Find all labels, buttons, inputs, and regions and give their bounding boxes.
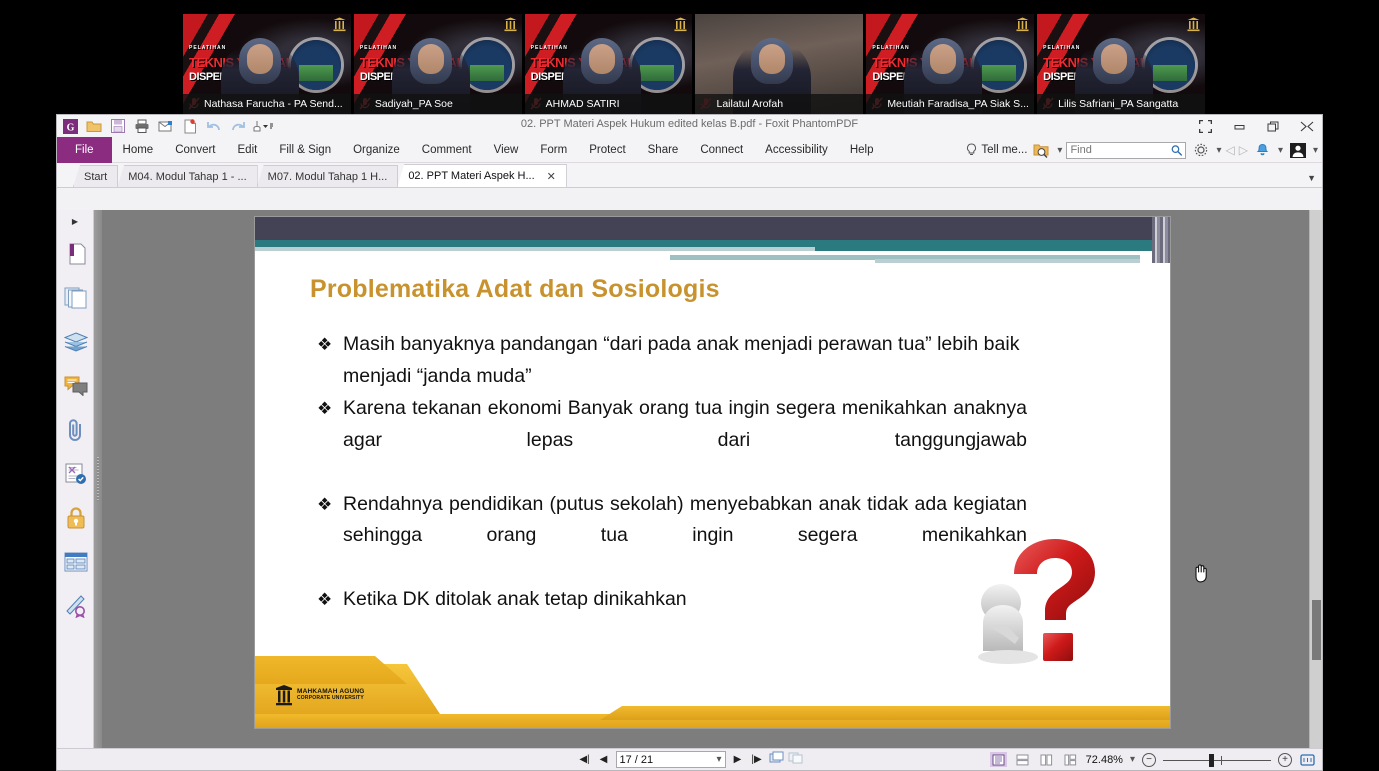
slide-accent-stripe-1	[255, 247, 815, 251]
pages-thumbnails-icon[interactable]	[57, 276, 94, 320]
participant-tile[interactable]: PELATIHANTEKNIS YUDISIALDISPENSASIMeutia…	[866, 14, 1034, 114]
ribbon-tab-organize[interactable]: Organize	[342, 137, 411, 163]
zoom-in-button[interactable]: +	[1278, 753, 1292, 767]
tell-me-box[interactable]: Tell me...	[966, 143, 1027, 157]
bullet-marker-icon: ❖	[317, 584, 343, 616]
minimize-button[interactable]	[1226, 117, 1252, 135]
ribbon-tab-protect[interactable]: Protect	[578, 137, 636, 163]
participant-name-label: Lilis Safriani_PA Sangatta	[1037, 94, 1205, 114]
status-bar: ◀| ◀ 17 / 21 ▾ ▶ |▶	[57, 748, 1322, 770]
participant-tile[interactable]: Lailatul Arofah	[695, 14, 863, 114]
participant-name-label: Nathasa Farucha - PA Send...	[183, 94, 351, 114]
continuous-view-icon[interactable]	[1014, 752, 1031, 767]
restore-button[interactable]	[1260, 117, 1286, 135]
ribbon-tab-accessibility[interactable]: Accessibility	[754, 137, 839, 163]
participant-tile[interactable]: PELATIHANTEKNIS YUDISIALDISPENSASIAHMAD …	[525, 14, 693, 114]
zoom-level-value: 72.48%	[1086, 754, 1123, 766]
find-input-wrapper[interactable]	[1066, 142, 1186, 159]
document-tab-label: 02. PPT Materi Aspek H...	[408, 170, 534, 182]
mahkamah-agung-logo: MAHKAMAH AGUNG CORPORATE UNIVERSITY	[275, 684, 365, 706]
security-lock-icon[interactable]	[57, 496, 94, 540]
zoom-out-button[interactable]: −	[1142, 753, 1156, 767]
slide-bullet-item: ❖Rendahnya pendidikan (putus sekolah) me…	[317, 489, 1027, 584]
notification-dropdown-arrow[interactable]: ▾	[1278, 145, 1283, 156]
bookmarks-icon[interactable]	[57, 232, 94, 276]
question-mark-graphic	[963, 531, 1148, 681]
ribbon-right-tools: Tell me... ▾ ▾ ◁ ▷ ▾ ▾	[966, 137, 1318, 163]
participant-name-label: Lailatul Arofah	[695, 94, 863, 114]
ribbon-tab-view[interactable]: View	[483, 137, 530, 163]
slide-band-right-stripes	[1152, 217, 1170, 263]
slide-bullet-text: Karena tekanan ekonomi Banyak orang tua …	[343, 393, 1027, 488]
vertical-scrollbar-thumb[interactable]	[1312, 600, 1321, 660]
ribbon-tab-form[interactable]: Form	[529, 137, 578, 163]
pillars-emblem-icon	[1187, 17, 1200, 32]
document-tab-label: M04. Modul Tahap 1 - ...	[128, 171, 246, 183]
close-tab-icon[interactable]: ✕	[547, 170, 556, 183]
search-dropdown-arrow[interactable]: ▾	[1057, 145, 1062, 156]
notification-bell-icon[interactable]	[1252, 140, 1274, 160]
participant-tile[interactable]: PELATIHANTEKNIS YUDISIALDISPENSASILilis …	[1037, 14, 1205, 114]
nav-back-icon[interactable]: ◁	[1225, 143, 1234, 157]
account-dropdown-arrow[interactable]: ▾	[1313, 145, 1318, 156]
zoom-slider-thumb[interactable]	[1209, 754, 1214, 767]
pillars-emblem-icon	[504, 17, 517, 32]
bullet-marker-icon: ❖	[317, 489, 343, 584]
ribbon-tab-comment[interactable]: Comment	[411, 137, 483, 163]
ribbon-tab-convert[interactable]: Convert	[164, 137, 226, 163]
ribbon-tab-share[interactable]: Share	[637, 137, 690, 163]
ribbon-tab-bar: FileHomeConvertEditFill & SignOrganizeCo…	[57, 137, 1322, 163]
slide-bullet-item: ❖Ketika DK ditolak anak tetap dinikahkan	[317, 584, 1027, 616]
document-tab[interactable]: Start	[73, 165, 118, 187]
page-number-value: 17 / 21	[620, 754, 654, 766]
document-tab[interactable]: M07. Modul Tahap 1 H...	[257, 165, 399, 187]
page-number-input[interactable]: 17 / 21 ▾	[616, 751, 726, 768]
stamps-icon[interactable]	[57, 452, 94, 496]
video-participant-strip: PELATIHANTEKNIS YUDISIALDISPENSASINathas…	[183, 14, 1205, 114]
panel-toggle-arrow-icon[interactable]: ▶	[57, 210, 93, 232]
participant-name-label: Sadiyah_PA Soe	[354, 94, 522, 114]
slide-footer-right-wedge	[600, 706, 1170, 720]
ribbon-tab-file[interactable]: File	[57, 137, 112, 163]
zoom-slider-tick	[1221, 756, 1222, 765]
pillars-emblem-icon	[275, 684, 293, 706]
next-page-button[interactable]: ▶	[731, 754, 745, 765]
pillars-emblem-icon	[1016, 17, 1029, 32]
attachments-icon[interactable]	[57, 408, 94, 452]
slide-bullet-item: ❖Karena tekanan ekonomi Banyak orang tua…	[317, 393, 1027, 488]
logo-line-1: MAHKAMAH AGUNG	[297, 688, 365, 696]
first-page-button[interactable]: ◀|	[578, 754, 592, 765]
participant-tile[interactable]: PELATIHANTEKNIS YUDISIALDISPENSASINathas…	[183, 14, 351, 114]
slide-accent-stripe-3	[875, 259, 1140, 263]
search-icon[interactable]	[1171, 144, 1183, 157]
facing-continuous-view-icon[interactable]	[1062, 752, 1079, 767]
facing-view-icon[interactable]	[1038, 752, 1055, 767]
account-avatar-icon[interactable]	[1287, 140, 1309, 160]
title-bar: G	[57, 115, 1322, 137]
slide-bullet-item: ❖Masih banyaknya pandangan “dari pada an…	[317, 329, 1027, 392]
ribbon-tab-edit[interactable]: Edit	[227, 137, 269, 163]
ribbon-tab-home[interactable]: Home	[112, 137, 165, 163]
panel-splitter[interactable]	[94, 210, 102, 748]
document-tab-bar: StartM04. Modul Tahap 1 - ...M07. Modul …	[57, 163, 1322, 188]
zoom-dropdown-arrow-icon[interactable]: ▾	[1130, 754, 1135, 765]
settings-gear-icon[interactable]	[1190, 140, 1212, 160]
ribbon-display-options-button[interactable]	[1192, 117, 1218, 135]
page-dropdown-arrow-icon[interactable]: ▾	[716, 754, 721, 765]
window-title: 02. PPT Materi Aspek Hukum edited kelas …	[57, 118, 1322, 130]
ribbon-tab-help[interactable]: Help	[839, 137, 885, 163]
ribbon-tab-fill-sign[interactable]: Fill & Sign	[268, 137, 342, 163]
document-tab[interactable]: M04. Modul Tahap 1 - ...	[117, 165, 257, 187]
pdf-viewport[interactable]: Problematika Adat dan Sosiologis ❖Masih …	[102, 210, 1322, 748]
ribbon-tab-connect[interactable]: Connect	[689, 137, 754, 163]
zoom-controls: 72.48% ▾ − +	[990, 752, 1316, 767]
digital-signature-icon[interactable]	[57, 584, 94, 628]
document-tab-label: Start	[84, 171, 107, 183]
bullet-marker-icon: ❖	[317, 393, 343, 488]
fit-width-icon[interactable]	[1299, 752, 1316, 767]
participant-tile[interactable]: PELATIHANTEKNIS YUDISIALDISPENSASISadiya…	[354, 14, 522, 114]
participant-name-label: AHMAD SATIRI	[525, 94, 693, 114]
nav-forward-icon[interactable]: ▷	[1239, 143, 1248, 157]
hand-cursor	[1192, 563, 1210, 588]
bullet-marker-icon: ❖	[317, 329, 343, 392]
slide-top-band	[255, 217, 1170, 240]
slide-footer-gold-shape-upper	[255, 656, 407, 684]
tab-overflow-chevron-icon[interactable]: ▼	[1307, 173, 1316, 183]
lightbulb-icon	[966, 143, 977, 157]
fields-icon[interactable]	[57, 540, 94, 584]
slide-title: Problematika Adat dan Sosiologis	[310, 275, 720, 304]
tell-me-label: Tell me...	[981, 144, 1027, 156]
foxit-phantompdf-window: G	[56, 114, 1323, 771]
layers-icon[interactable]	[57, 320, 94, 364]
find-input[interactable]	[1070, 144, 1170, 156]
close-button[interactable]	[1294, 117, 1320, 135]
zoom-slider-track	[1163, 760, 1271, 761]
slide-bullet-text: Masih banyaknya pandangan “dari pada ana…	[343, 329, 1027, 392]
vertical-scrollbar[interactable]	[1309, 210, 1322, 748]
pillars-emblem-icon	[333, 17, 346, 32]
left-navigation-panel: ▶	[57, 210, 94, 748]
slide-bullet-text: Ketika DK ditolak anak tetap dinikahkan	[343, 584, 687, 616]
single-page-view-icon[interactable]	[990, 752, 1007, 767]
page-navigation: ◀| ◀ 17 / 21 ▾ ▶ |▶	[578, 751, 802, 768]
comments-icon[interactable]	[57, 364, 94, 408]
search-folder-icon[interactable]	[1031, 140, 1053, 160]
last-page-button[interactable]: |▶	[750, 754, 764, 765]
fit-page-icon[interactable]	[769, 751, 783, 768]
window-controls	[1192, 117, 1320, 135]
rotate-view-icon[interactable]	[788, 751, 802, 768]
participant-name-label: Meutiah Faradisa_PA Siak S...	[866, 94, 1034, 114]
slide-bullet-text: Rendahnya pendidikan (putus sekolah) men…	[343, 489, 1027, 584]
pillars-emblem-icon	[674, 17, 687, 32]
document-tab[interactable]: 02. PPT Materi Aspek H...✕	[397, 164, 567, 187]
zoom-slider[interactable]	[1163, 753, 1271, 767]
document-body: ▶	[57, 210, 1322, 748]
previous-page-button[interactable]: ◀	[597, 754, 611, 765]
logo-line-2: CORPORATE UNIVERSITY	[297, 695, 365, 703]
slide-bullet-list: ❖Masih banyaknya pandangan “dari pada an…	[317, 329, 1027, 617]
pdf-page-slide: Problematika Adat dan Sosiologis ❖Masih …	[254, 216, 1171, 729]
document-tab-label: M07. Modul Tahap 1 H...	[268, 171, 388, 183]
settings-dropdown-arrow[interactable]: ▾	[1216, 145, 1221, 156]
